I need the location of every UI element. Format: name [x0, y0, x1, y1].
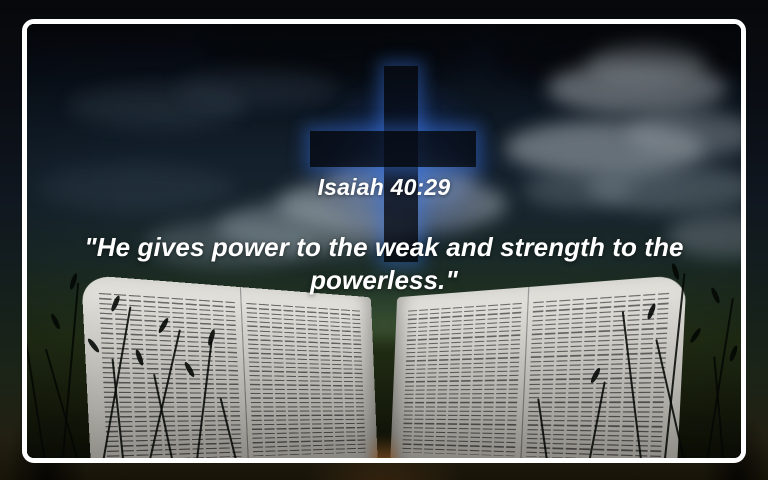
bible-page-left [81, 275, 378, 458]
cloud-center-2 [327, 158, 477, 204]
cloud-center-4 [147, 220, 317, 266]
bible-page-right [390, 275, 687, 458]
cloud-faint-left-lower [37, 164, 237, 212]
photo-frame: Isaiah 40:29 "He gives power to the weak… [22, 19, 746, 463]
background-photo [27, 24, 741, 458]
cloud-right-7 [667, 214, 741, 258]
page-shading-left [81, 275, 378, 458]
cloud-faint-left-mid [177, 68, 337, 106]
scripture-card-canvas: Isaiah 40:29 "He gives power to the weak… [0, 0, 768, 480]
cloud-right-2 [587, 44, 707, 86]
bible-spine [371, 434, 397, 458]
page-shading-right [390, 275, 687, 458]
cloud-right-6 [523, 172, 633, 208]
open-bible [124, 274, 644, 458]
